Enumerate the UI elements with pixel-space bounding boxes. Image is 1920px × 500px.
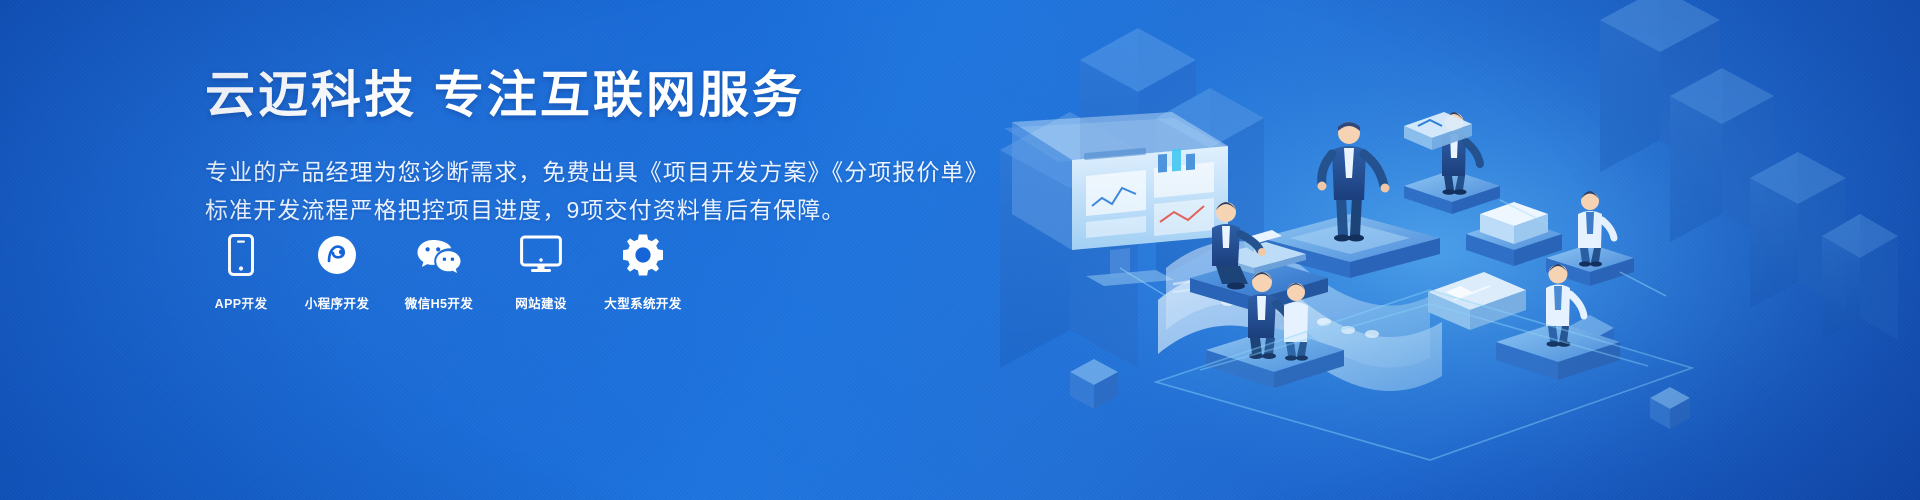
banner-content: 云迈科技 专注互联网服务 专业的产品经理为您诊断需求，免费出具《项目开发方案》《…: [205, 64, 925, 230]
banner-subtitle: 专业的产品经理为您诊断需求，免费出具《项目开发方案》《分项报价单》 标准开发流程…: [205, 153, 925, 230]
service-label-miniprogram: 小程序开发: [305, 293, 370, 312]
hero-banner: 云迈科技 专注互联网服务 专业的产品经理为您诊断需求，免费出具《项目开发方案》《…: [0, 0, 1920, 500]
service-item-miniprogram[interactable]: 小程序开发: [301, 232, 373, 312]
service-item-wechat-h5[interactable]: 微信H5开发: [397, 232, 481, 312]
service-item-large-system[interactable]: 大型系统开发: [601, 232, 685, 312]
monitor-icon: [505, 232, 577, 278]
service-icon-list: APP开发 小程序开发: [205, 232, 685, 312]
service-item-app[interactable]: APP开发: [205, 232, 277, 312]
isometric-illustration: [960, 0, 1920, 500]
page-title: 云迈科技 专注互联网服务: [205, 64, 925, 127]
mobile-phone-icon: [205, 232, 277, 278]
mini-program-icon: [301, 232, 373, 278]
subtitle-line-1: 专业的产品经理为您诊断需求，免费出具《项目开发方案》《分项报价单》: [205, 153, 925, 192]
service-item-website[interactable]: 网站建设: [505, 232, 577, 312]
subtitle-line-2: 标准开发流程严格把控项目进度，9项交付资料售后有保障。: [205, 191, 925, 230]
service-label-large-system: 大型系统开发: [604, 293, 681, 312]
gear-icon: [601, 232, 685, 278]
service-label-wechat-h5: 微信H5开发: [405, 293, 473, 312]
wechat-icon: [397, 232, 481, 278]
service-label-website: 网站建设: [515, 293, 567, 312]
service-label-app: APP开发: [215, 293, 268, 312]
